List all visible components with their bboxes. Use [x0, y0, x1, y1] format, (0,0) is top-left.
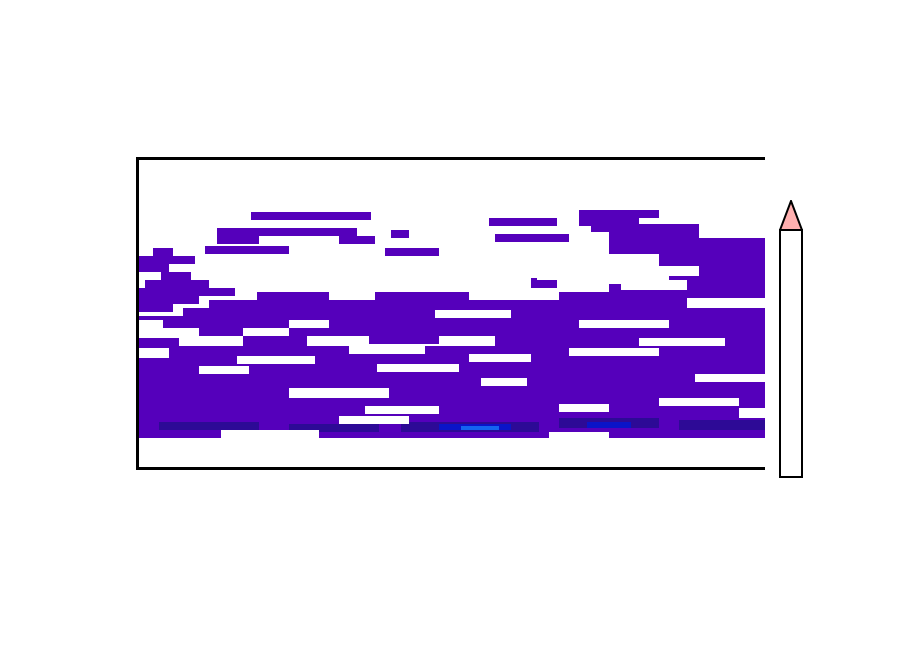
colorbar[interactable] — [779, 229, 803, 478]
cloud-density-contours — [139, 160, 765, 467]
plot-area — [136, 157, 765, 470]
figure-canvas — [0, 0, 904, 654]
contour-field — [139, 160, 765, 467]
colorbar-arrow-cap — [779, 200, 803, 231]
